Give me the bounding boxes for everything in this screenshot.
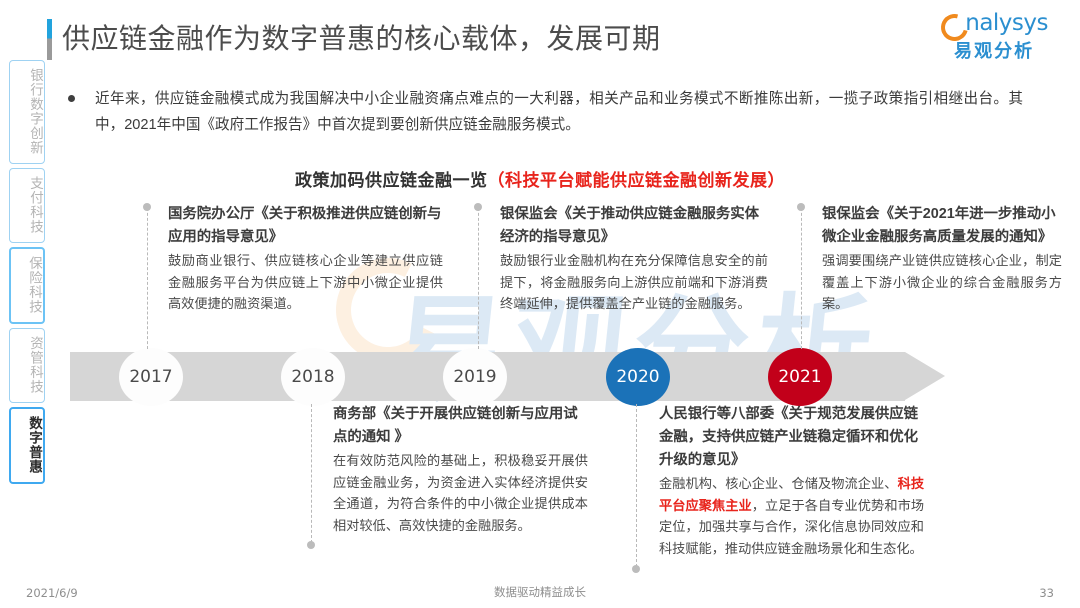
connector-line-2017 xyxy=(147,208,148,349)
connector-dot-2018 xyxy=(307,541,315,549)
connector-dot-2021 xyxy=(797,203,805,211)
timeline-node-2021[interactable]: 2021 xyxy=(768,348,832,406)
sidebar-tabs: 银行数字创新 支付科技 保险科技 资管科技 数字普惠 xyxy=(8,60,48,488)
logo-english-text: nalysys xyxy=(965,10,1048,36)
sidebar-item-insurance-tech[interactable]: 保险科技 xyxy=(9,247,45,324)
policy-card-2021: 银保监会《关于2021年进一步推动小微企业金融服务高质量发展的通知》 强调要围绕… xyxy=(822,203,1062,315)
sidebar-item-digital-inclusive-finance[interactable]: 数字普惠 xyxy=(9,407,45,484)
connector-line-2018 xyxy=(311,404,312,543)
connector-line-2020 xyxy=(636,404,637,567)
chart-title: 政策加码供应链金融一览（科技平台赋能供应链金融创新发展） xyxy=(0,166,1080,191)
policy-card-2019-body: 鼓励银行业金融机构在充分保障信息安全的前提下，将金融服务向上游供应前端和下游消费… xyxy=(500,250,768,315)
policy-card-2018-title: 商务部《关于开展供应链创新与应用试点的通知 》 xyxy=(333,403,588,449)
sidebar-item-bank-digital-innovation[interactable]: 银行数字创新 xyxy=(9,60,45,164)
chart-title-main: 政策加码供应链金融一览 xyxy=(295,171,488,190)
timeline-node-2019[interactable]: 2019 xyxy=(443,348,507,406)
policy-card-2021-title: 银保监会《关于2021年进一步推动小微企业金融服务高质量发展的通知》 xyxy=(822,203,1062,249)
footer-tagline: 数据驱动精益成长 xyxy=(0,584,1080,600)
analysys-swirl-icon xyxy=(940,11,964,35)
connector-line-2021 xyxy=(801,208,802,349)
policy-card-2017-body: 鼓励商业银行、供应链核心企业等建立供应链金融服务平台为供应链上下游中小微企业提供… xyxy=(168,250,443,315)
footer-page-number: 33 xyxy=(1039,586,1054,600)
policy-card-2020-body: 金融机构、核心企业、仓储及物流企业、科技平台应聚焦主业，立足于各自专业优势和市场… xyxy=(659,473,924,559)
policy-card-2018-body: 在有效防范风险的基础上，积极稳妥开展供应链金融业务，为资金进入实体经济提供安全通… xyxy=(333,450,588,536)
policy-card-2017-title: 国务院办公厅《关于积极推进供应链创新与应用的指导意见》 xyxy=(168,203,443,249)
policy-card-2019: 银保监会《关于推动供应链金融服务实体经济的指导意见》 鼓励银行业金融机构在充分保… xyxy=(500,203,768,315)
policy-card-2020-title: 人民银行等八部委《关于规范发展供应链金融，支持供应链产业链稳定循环和优化升级的意… xyxy=(659,403,924,472)
slide-canvas: 易观分析 供应链金融作为数字普惠的核心载体，发展可期 nalysys 易观分析 … xyxy=(0,0,1080,608)
chart-title-accent: （科技平台赋能供应链金融创新发展） xyxy=(488,171,786,190)
page-title: 供应链金融作为数字普惠的核心载体，发展可期 xyxy=(62,17,661,57)
policy-card-2020: 人民银行等八部委《关于规范发展供应链金融，支持供应链产业链稳定循环和优化升级的意… xyxy=(659,403,924,559)
connector-line-2019 xyxy=(478,208,479,349)
bullet-dot-icon xyxy=(68,95,75,102)
timeline-arrow-head-icon xyxy=(905,352,945,400)
timeline-node-2018[interactable]: 2018 xyxy=(281,348,345,406)
intro-bullet: 近年来，供应链金融模式成为我国解决中小企业融资痛点难点的一大利器，相关产品和业务… xyxy=(68,86,1023,138)
brand-logo: nalysys 易观分析 xyxy=(940,10,1048,63)
policy-card-2018: 商务部《关于开展供应链创新与应用试点的通知 》 在有效防范风险的基础上，积极稳妥… xyxy=(333,403,588,536)
sidebar-item-asset-management-tech[interactable]: 资管科技 xyxy=(9,328,45,403)
connector-dot-2020 xyxy=(632,565,640,573)
connector-dot-2019 xyxy=(474,203,482,211)
connector-dot-2017 xyxy=(143,203,151,211)
policy-card-2021-body: 强调要围绕产业链供应链核心企业，制定覆盖上下游小微企业的综合金融服务方案。 xyxy=(822,250,1062,315)
intro-bullet-text: 近年来，供应链金融模式成为我国解决中小企业融资痛点难点的一大利器，相关产品和业务… xyxy=(95,86,1023,138)
policy-card-2017: 国务院办公厅《关于积极推进供应链创新与应用的指导意见》 鼓励商业银行、供应链核心… xyxy=(168,203,443,315)
title-accent-bar xyxy=(47,19,52,60)
policy-card-2019-title: 银保监会《关于推动供应链金融服务实体经济的指导意见》 xyxy=(500,203,768,249)
timeline-node-2020[interactable]: 2020 xyxy=(606,348,670,406)
timeline-node-2017[interactable]: 2017 xyxy=(119,348,183,406)
policy-card-2020-body-pre: 金融机构、核心企业、仓储及物流企业、 xyxy=(659,476,898,491)
